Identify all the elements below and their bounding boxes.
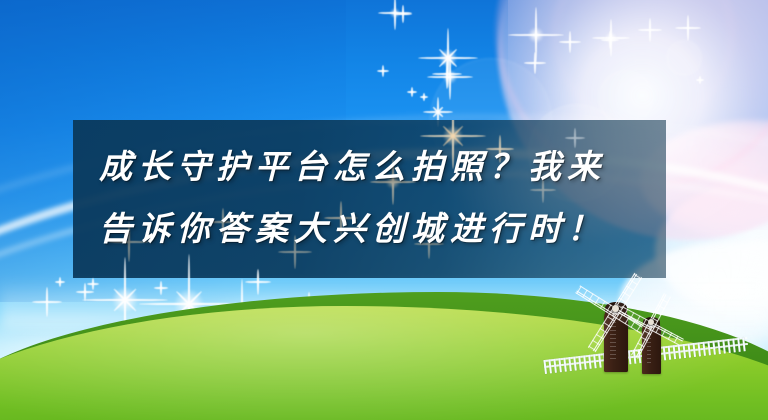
bokeh-circle-3 — [666, 40, 702, 76]
windmill-hub — [648, 319, 654, 325]
headline-line-1: 成长守护平台怎么拍照？我来 — [99, 137, 640, 199]
headline-line-2: 告诉你答案大兴创城进行时！ — [99, 199, 640, 261]
windmill-right — [638, 310, 698, 376]
banner-image: 成长守护平台怎么拍照？我来 告诉你答案大兴创城进行时！ — [0, 0, 768, 420]
headline-banner: 成长守护平台怎么拍照？我来 告诉你答案大兴创城进行时！ — [73, 120, 666, 278]
